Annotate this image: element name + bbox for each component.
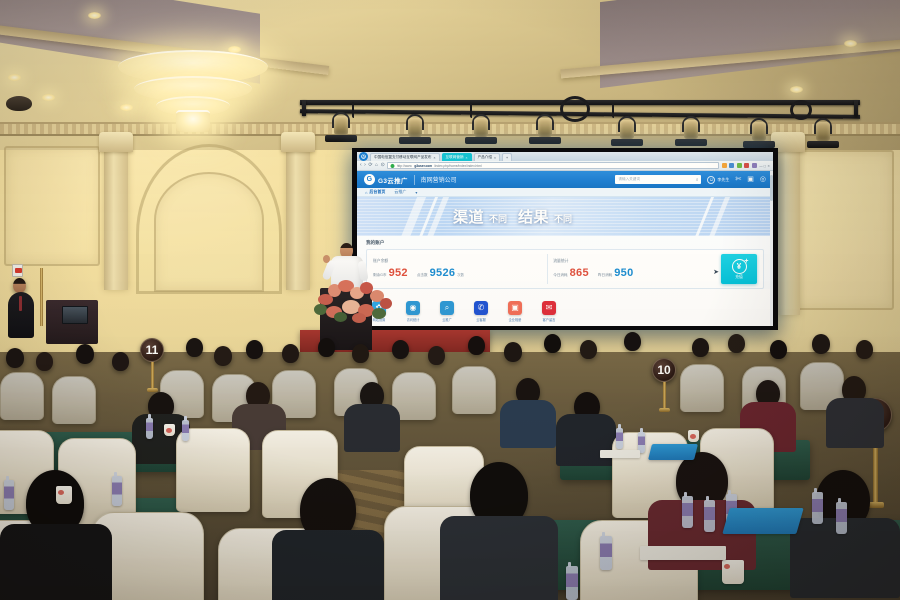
quick-apps-section: 快捷应用 ✿ 网站设置 ◉ 访问统计 ⌕ 云推广 ✆ (357, 289, 773, 322)
mail-icon: ✉ (542, 301, 556, 315)
wall-panel-inner-arch (154, 172, 264, 292)
browser-logo-icon: e (359, 152, 368, 161)
brand-name: G3云推广 (378, 175, 408, 185)
side-attendee-head (13, 278, 26, 293)
refresh-icon[interactable]: ⟳ (368, 163, 372, 168)
stage-light-6 (680, 116, 702, 146)
search-icon: ⌕ (440, 301, 454, 315)
back-icon[interactable]: ‹ (360, 163, 362, 168)
attendee-head (214, 346, 232, 366)
search-input[interactable]: 请输入关键词 ⌕ (615, 175, 701, 184)
side-attendee (8, 278, 34, 340)
chair (52, 376, 96, 424)
table-sign-stem (663, 382, 666, 408)
attendee-body (272, 530, 384, 600)
chandelier (118, 42, 268, 134)
hero-headline: 渠道 不同 结果 不同 (453, 206, 572, 227)
truss-post-left (302, 100, 306, 116)
wall-sign (12, 264, 23, 277)
extension-icon-5[interactable] (752, 163, 757, 168)
chair (452, 366, 496, 414)
url-prefix: http://www. (397, 164, 413, 168)
user-menu[interactable]: ☺ 李先生 (707, 176, 729, 184)
paper-cup (688, 430, 699, 442)
table-sign-10: 10 (652, 358, 676, 412)
close-icon[interactable]: × (494, 156, 496, 160)
stage-light-7 (748, 118, 770, 148)
app-tile-cloud-service-label: 云客服 (471, 317, 491, 322)
stage-light-2 (404, 114, 426, 144)
downlight-6 (844, 40, 857, 47)
close-icon[interactable]: × (434, 156, 436, 160)
stop-icon[interactable]: ⊙ (381, 163, 385, 168)
stage-light-3 (470, 114, 492, 144)
attendee-head (770, 340, 787, 359)
browser-tab-2-title: 产品介绍 (478, 155, 492, 160)
hero-word-3: 结果 (518, 206, 549, 227)
document-folder (648, 444, 698, 460)
stat-today-usage-key: 今日消耗 (553, 273, 567, 278)
water-bottle (600, 536, 612, 570)
forward-icon[interactable]: › (364, 163, 366, 168)
attendee-head (186, 338, 203, 357)
url-path: /index.php/home/index/index.html (434, 164, 482, 168)
wall-capital-2 (281, 132, 315, 152)
paper-cup (722, 560, 744, 584)
app-tile-cloud-service[interactable]: ✆ 云客服 (471, 301, 491, 322)
app-tile-visit-stats-label: 访问统计 (403, 317, 423, 322)
cable-coil (560, 96, 590, 122)
wall-pilaster-3 (776, 140, 800, 315)
attendee-head (580, 340, 597, 359)
browser-address-bar: ‹ › ⟳ ⌂ ⊙ ⬤ http://www. g3user.com /inde… (357, 161, 773, 171)
app-tile-cloud-promo[interactable]: ⌕ 云推广 (437, 301, 457, 322)
presenter-hand (323, 255, 330, 263)
truss-post-right (854, 100, 858, 116)
stage-light-5 (616, 116, 638, 146)
avatar: ☺ (707, 176, 715, 184)
power-cable-3 (612, 104, 614, 118)
site-subnav: ⌂ 后台首页 云推广 ▾ (357, 188, 773, 197)
browser-tab-2[interactable]: 产品介绍 × (474, 153, 500, 161)
subnav-item-home[interactable]: ⌂ 后台首页 (365, 189, 385, 195)
currency-symbol: ¥ (737, 262, 741, 271)
recharge-button[interactable]: ¥ + 充值 (721, 254, 757, 284)
account-traffic-group: 流量统计 今日消耗 865 昨日消耗 950 (553, 259, 721, 279)
attendee-head (392, 340, 409, 359)
subnav-item-more[interactable]: ▾ (415, 190, 417, 195)
attendee-head (812, 334, 830, 354)
attendee-head (36, 352, 53, 371)
scene-root: e 中国电信翼支付移动互联网产品发布 × 互联网营销 × 产品介绍 × + (0, 0, 900, 600)
account-traffic-stats: 今日消耗 865 昨日消耗 950 (553, 267, 721, 279)
stat-yesterday-usage-value: 950 (614, 267, 633, 279)
currency-plus-icon: ¥ + (732, 259, 747, 274)
url-input[interactable]: ⬤ http://www. g3user.com /index.php/home… (387, 162, 719, 169)
stat-today-usage-value: 865 (570, 267, 589, 279)
water-bottle (836, 502, 847, 534)
account-card: 账户余额 剩余G币 952 点击数 9526 次数 (366, 249, 764, 289)
account-balance-label: 账户余额 (373, 259, 541, 264)
extension-icon-1[interactable] (722, 163, 727, 168)
water-bottle (682, 496, 693, 528)
account-balance-stats: 剩余G币 952 点击数 9526 次数 (373, 267, 541, 279)
power-cable-1 (352, 102, 354, 118)
account-divider (547, 254, 548, 284)
paper-cup (164, 424, 175, 436)
wall-panel-right-1 (790, 150, 894, 310)
account-panel: 我的账户 账户余额 剩余G币 952 点击数 9526 次数 (357, 236, 773, 289)
camera-icon: ▣ (508, 301, 522, 315)
quick-apps-title: 快捷应用 (366, 292, 764, 298)
downlight-7 (790, 86, 803, 93)
water-bottle (616, 428, 623, 449)
stat-yesterday-usage-key: 昨日消耗 (598, 273, 612, 278)
paper-cup (56, 486, 72, 504)
stage-light-8 (812, 118, 834, 148)
attendee-head (504, 342, 522, 362)
attendee-head (76, 344, 94, 364)
browser-tab-1-title: 互联网营销 (446, 155, 464, 160)
stage-light-4 (534, 114, 556, 144)
water-bottle (112, 476, 122, 506)
stat-clicks: 点击数 9526 次数 (417, 267, 464, 279)
subnav-item-cloud[interactable]: 云推广 (394, 189, 406, 195)
search-placeholder: 请输入关键词 (618, 177, 640, 182)
attendee-body (0, 524, 112, 600)
water-bottle (566, 566, 578, 600)
attendee-body (556, 414, 616, 466)
home-icon: ⌂ (365, 190, 367, 195)
url-host: g3user.com (414, 164, 432, 168)
quick-apps-row: ✿ 网站设置 ◉ 访问统计 ⌕ 云推广 ✆ 云客服 (366, 301, 764, 322)
stat-today-usage: 今日消耗 865 (553, 267, 589, 279)
user-name: 李先生 (717, 177, 729, 183)
chat-icon: ✆ (474, 301, 488, 315)
hero-word-1: 渠道 (453, 206, 484, 227)
control-monitor (62, 306, 88, 324)
account-section-title: 我的账户 (366, 240, 764, 246)
wall-pilaster-1 (104, 140, 128, 290)
app-tile-visit-stats[interactable]: ◉ 访问统计 (403, 301, 423, 322)
attendee-head (318, 338, 335, 357)
attendee-head (428, 346, 445, 365)
chevron-down-icon: ▾ (415, 190, 417, 195)
app-tile-customer-messages-label: 客户留言 (539, 317, 559, 322)
lock-icon: ⬤ (390, 163, 394, 168)
brand-divider (414, 175, 415, 185)
projection-screen: e 中国电信翼支付移动互联网产品发布 × 互联网营销 × 产品介绍 × + (357, 152, 773, 326)
subnav-item-cloud-label: 云推广 (394, 189, 406, 195)
settings-icon[interactable]: ◎ (760, 176, 766, 183)
screenshot-icon[interactable]: ▣ (747, 176, 754, 183)
recharge-label: 充值 (735, 275, 743, 280)
extension-icon-4[interactable] (744, 163, 749, 168)
attendee-head (856, 340, 873, 359)
browser-tab-0-title: 中国电信翼支付移动互联网产品发布 (374, 155, 432, 160)
home-icon[interactable]: ⌂ (375, 163, 378, 168)
close-icon[interactable]: × (466, 156, 468, 160)
attendee-body (440, 516, 558, 600)
attendee-head (468, 336, 485, 355)
app-tile-cloud-promo-label: 云推广 (437, 317, 457, 322)
brand-mark-icon: G (364, 174, 375, 185)
cable-coil-2 (790, 100, 812, 120)
water-bottle (4, 480, 14, 510)
app-tile-company-album[interactable]: ▣ 企业相册 (505, 301, 525, 322)
water-bottle (182, 420, 189, 441)
downlight-1 (88, 12, 101, 19)
printed-handout (640, 546, 726, 560)
new-tab-button[interactable]: + (502, 153, 512, 161)
search-icon[interactable]: ⌕ (696, 177, 699, 182)
table-sign-11-number: 11 (140, 338, 164, 362)
attendee-head (352, 344, 369, 363)
attendee-head (6, 348, 24, 368)
chair (0, 372, 44, 420)
attendee-head (246, 340, 263, 359)
window-controls[interactable]: — ▢ ✕ (759, 164, 770, 168)
attendee-head (692, 338, 709, 357)
brand-subtitle: 南网营销公司 (421, 175, 457, 184)
ceiling-speaker (6, 96, 32, 111)
page-scrollbar[interactable] (770, 171, 773, 326)
mouse-cursor: ➤ (713, 268, 719, 276)
downlight-3 (8, 74, 21, 81)
hero-banner: 渠道 不同 结果 不同 (357, 197, 773, 236)
water-bottle (812, 492, 823, 524)
downlight-4 (42, 94, 55, 101)
extension-icon-2[interactable] (729, 163, 734, 168)
plus-icon: + (744, 258, 748, 265)
water-bottle (146, 418, 153, 439)
attendee-head (544, 334, 561, 353)
extension-icon-3[interactable] (737, 163, 742, 168)
stat-clicks-value: 9526 (430, 267, 456, 279)
scissors-icon[interactable]: ✄ (735, 176, 741, 183)
wall-pilaster-2 (286, 140, 310, 290)
site-header: G G3云推广 南网营销公司 请输入关键词 ⌕ ☺ 李先生 ✄ ▣ ◎ (357, 171, 773, 188)
wall-panel-far-left (4, 146, 100, 266)
app-tile-customer-messages[interactable]: ✉ 客户留言 (539, 301, 559, 322)
attendee-body (500, 400, 556, 448)
attendee-head (728, 334, 745, 353)
table-sign-10-number: 10 (652, 358, 676, 382)
table-sign-stem (151, 362, 154, 388)
attendee-head (282, 344, 299, 363)
printed-handout (600, 450, 640, 458)
browser-tab-strip: e 中国电信翼支付移动互联网产品发布 × 互联网营销 × 产品介绍 × + (357, 152, 773, 161)
browser-tab-1[interactable]: 互联网营销 × (442, 153, 472, 161)
projection-screen-frame: e 中国电信翼支付移动互联网产品发布 × 互联网营销 × 产品介绍 × + (352, 148, 778, 330)
flag-pole (40, 268, 43, 326)
wall-capital-1 (99, 132, 133, 152)
browser-tab-0[interactable]: 中国电信翼支付移动互联网产品发布 × (370, 153, 440, 161)
side-attendee-tie (19, 296, 22, 311)
stat-clicks-unit: 次数 (457, 272, 464, 277)
plus-icon: + (506, 156, 508, 160)
brand-logo[interactable]: G G3云推广 (364, 174, 408, 185)
subnav-item-home-label: 后台首页 (369, 189, 385, 195)
attendee-body (826, 398, 884, 448)
table-sign-foot (659, 408, 670, 412)
stat-yesterday-usage: 昨日消耗 950 (598, 267, 634, 279)
water-bottle (704, 500, 715, 532)
chart-icon: ◉ (406, 301, 420, 315)
account-balance-group: 账户余额 剩余G币 952 点击数 9526 次数 (373, 259, 541, 279)
attendee-head (624, 332, 641, 351)
document-folder (722, 508, 803, 534)
floral-arrangement (312, 278, 398, 322)
chair (680, 364, 724, 412)
hero-word-4: 不同 (554, 212, 572, 225)
attendee-head (112, 352, 129, 371)
hero-word-2: 不同 (489, 212, 507, 225)
stage-light-1 (330, 112, 352, 142)
stat-clicks-key: 点击数 (417, 273, 428, 278)
account-traffic-label: 流量统计 (553, 259, 721, 264)
scrollbar-thumb[interactable] (770, 175, 773, 201)
app-tile-company-album-label: 企业相册 (505, 317, 525, 322)
attendee-body (344, 404, 400, 452)
table-sign-foot (147, 388, 158, 392)
